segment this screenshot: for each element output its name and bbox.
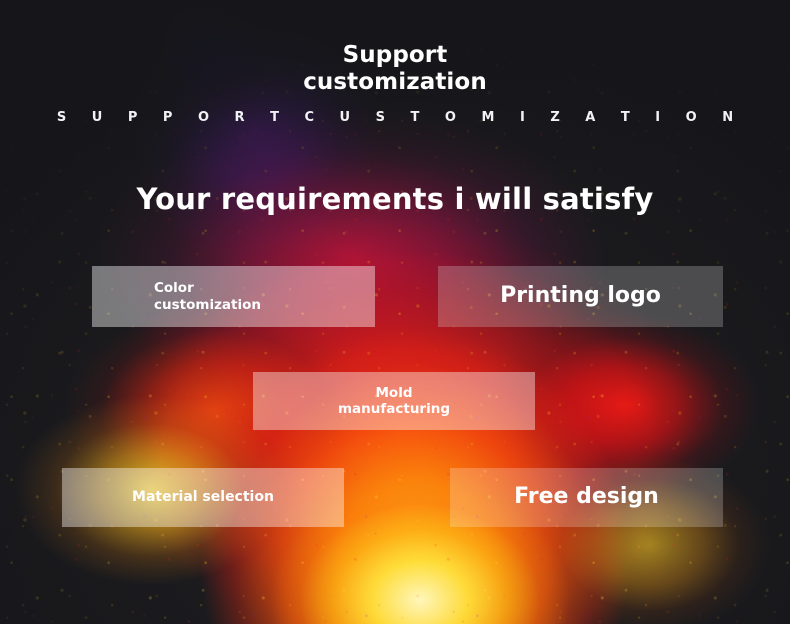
banner-content: Support customization S U P P O R T C U … [0, 0, 790, 624]
feature-plate-material-selection: Material selection [62, 468, 344, 527]
eyebrow-heading: Support customization [0, 42, 790, 96]
page-title: Your requirements i will satisfy [0, 182, 790, 216]
kicker-text: S U P P O R T C U S T O M I Z A T I O N [0, 110, 790, 125]
feature-plate-printing-logo: Printing logo [438, 266, 723, 327]
feature-plate-color-customization: Color customization [92, 266, 375, 327]
feature-plate-free-design: Free design [450, 468, 723, 527]
feature-plate-mold-manufacturing: Mold manufacturing [253, 372, 535, 430]
promo-banner: Support customization S U P P O R T C U … [0, 0, 790, 624]
